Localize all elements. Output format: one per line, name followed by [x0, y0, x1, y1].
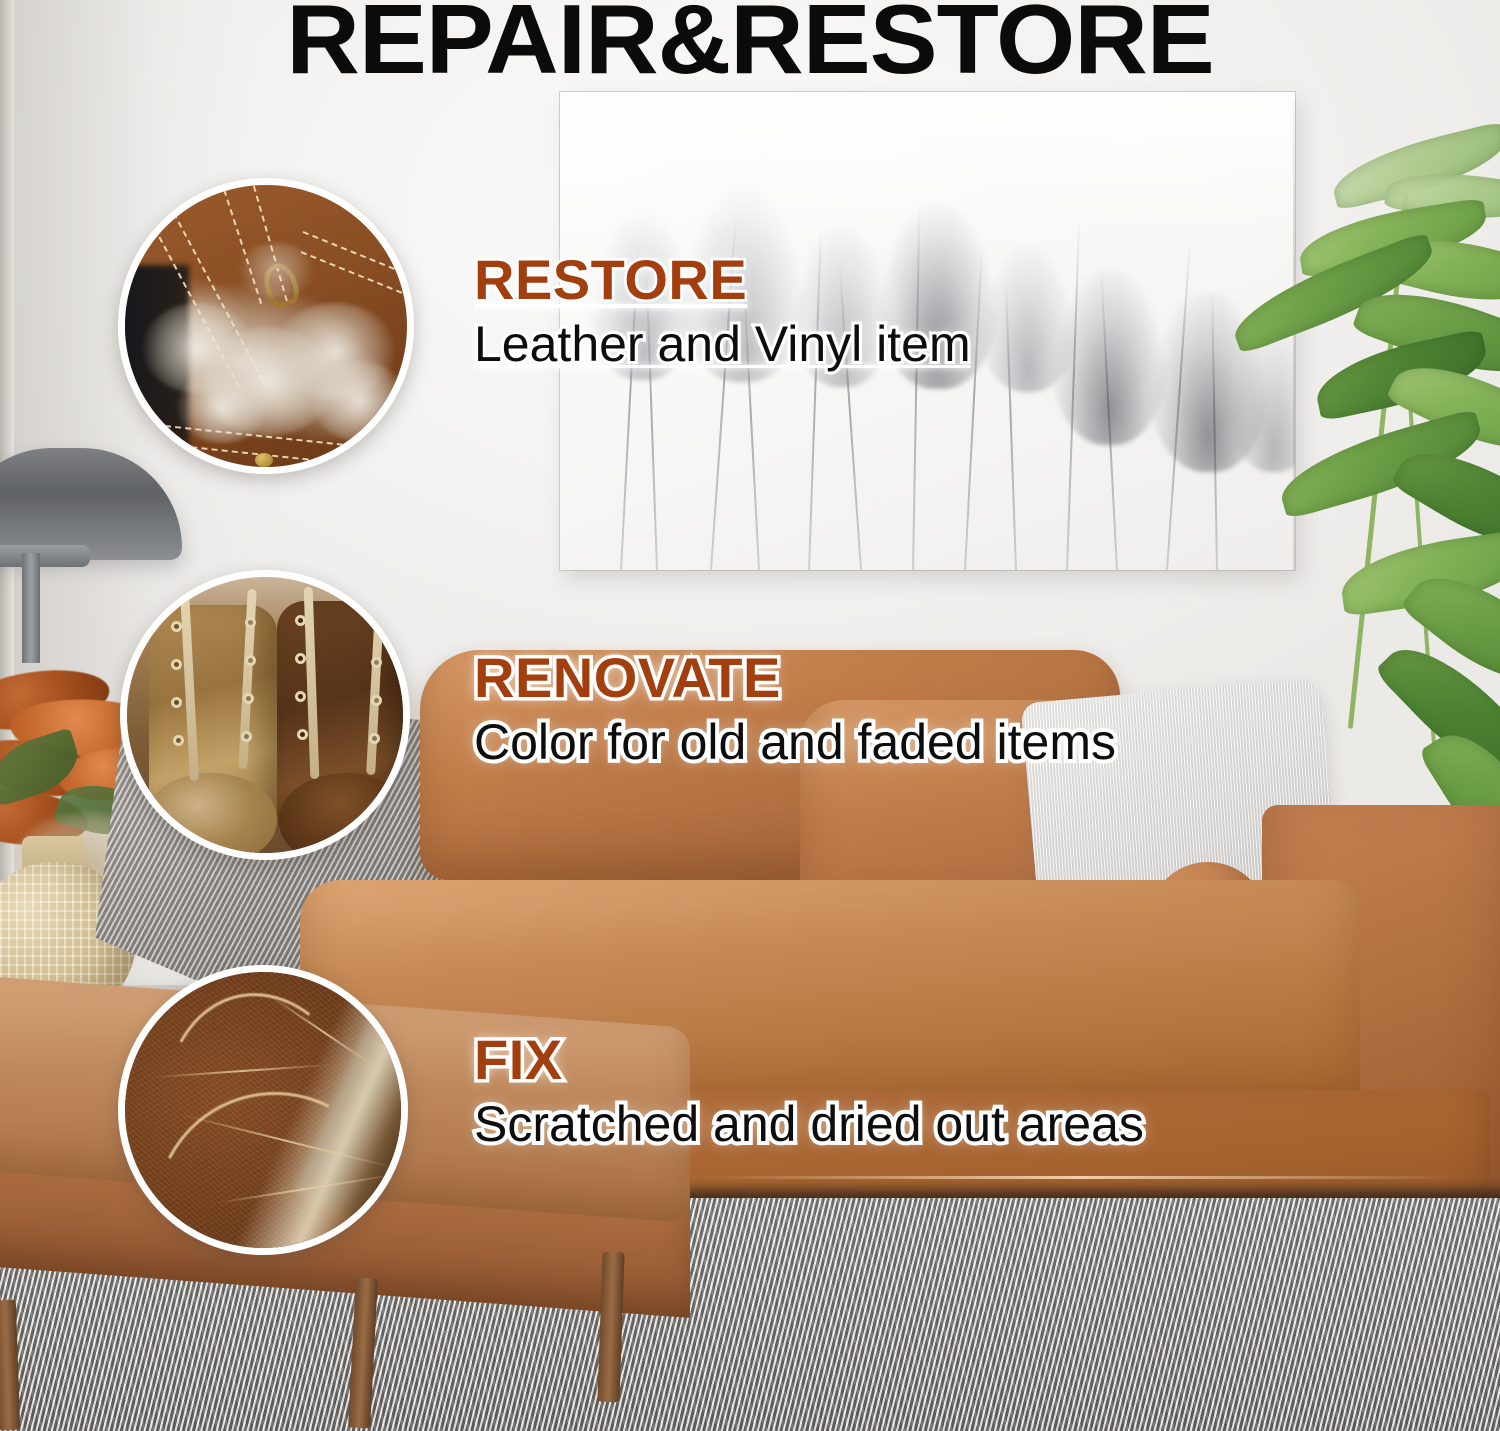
feature-restore-heading: RESTORE	[474, 250, 971, 309]
product-feature-poster: REPAIR&RESTORE RESTORE Leather and Vinyl…	[0, 0, 1500, 1431]
inset-circle-fix	[118, 965, 408, 1255]
image-leather-boots-before-after	[127, 577, 403, 853]
feature-renovate-subtitle: Color for old and faded items	[474, 715, 1116, 770]
feature-fix-heading: FIX	[474, 1030, 1144, 1089]
feature-renovate-heading: RENOVATE	[474, 648, 1116, 707]
poster-title: REPAIR&RESTORE	[0, 0, 1500, 88]
image-moldy-leather-bag	[125, 185, 407, 467]
inset-circle-renovate	[120, 570, 410, 860]
feature-restore: RESTORE Leather and Vinyl item	[474, 250, 971, 372]
sofa-seam	[700, 1176, 1460, 1179]
feature-restore-subtitle: Leather and Vinyl item	[474, 317, 971, 372]
image-scratched-leather	[125, 972, 401, 1248]
feature-fix: FIX Scratched and dried out areas	[474, 1030, 1144, 1152]
inset-circle-restore	[118, 178, 414, 474]
table-lamp-cap	[0, 545, 90, 567]
table-lamp-stem	[22, 553, 40, 663]
feature-fix-subtitle: Scratched and dried out areas	[474, 1097, 1144, 1152]
feature-renovate: RENOVATE Color for old and faded items	[474, 648, 1116, 770]
